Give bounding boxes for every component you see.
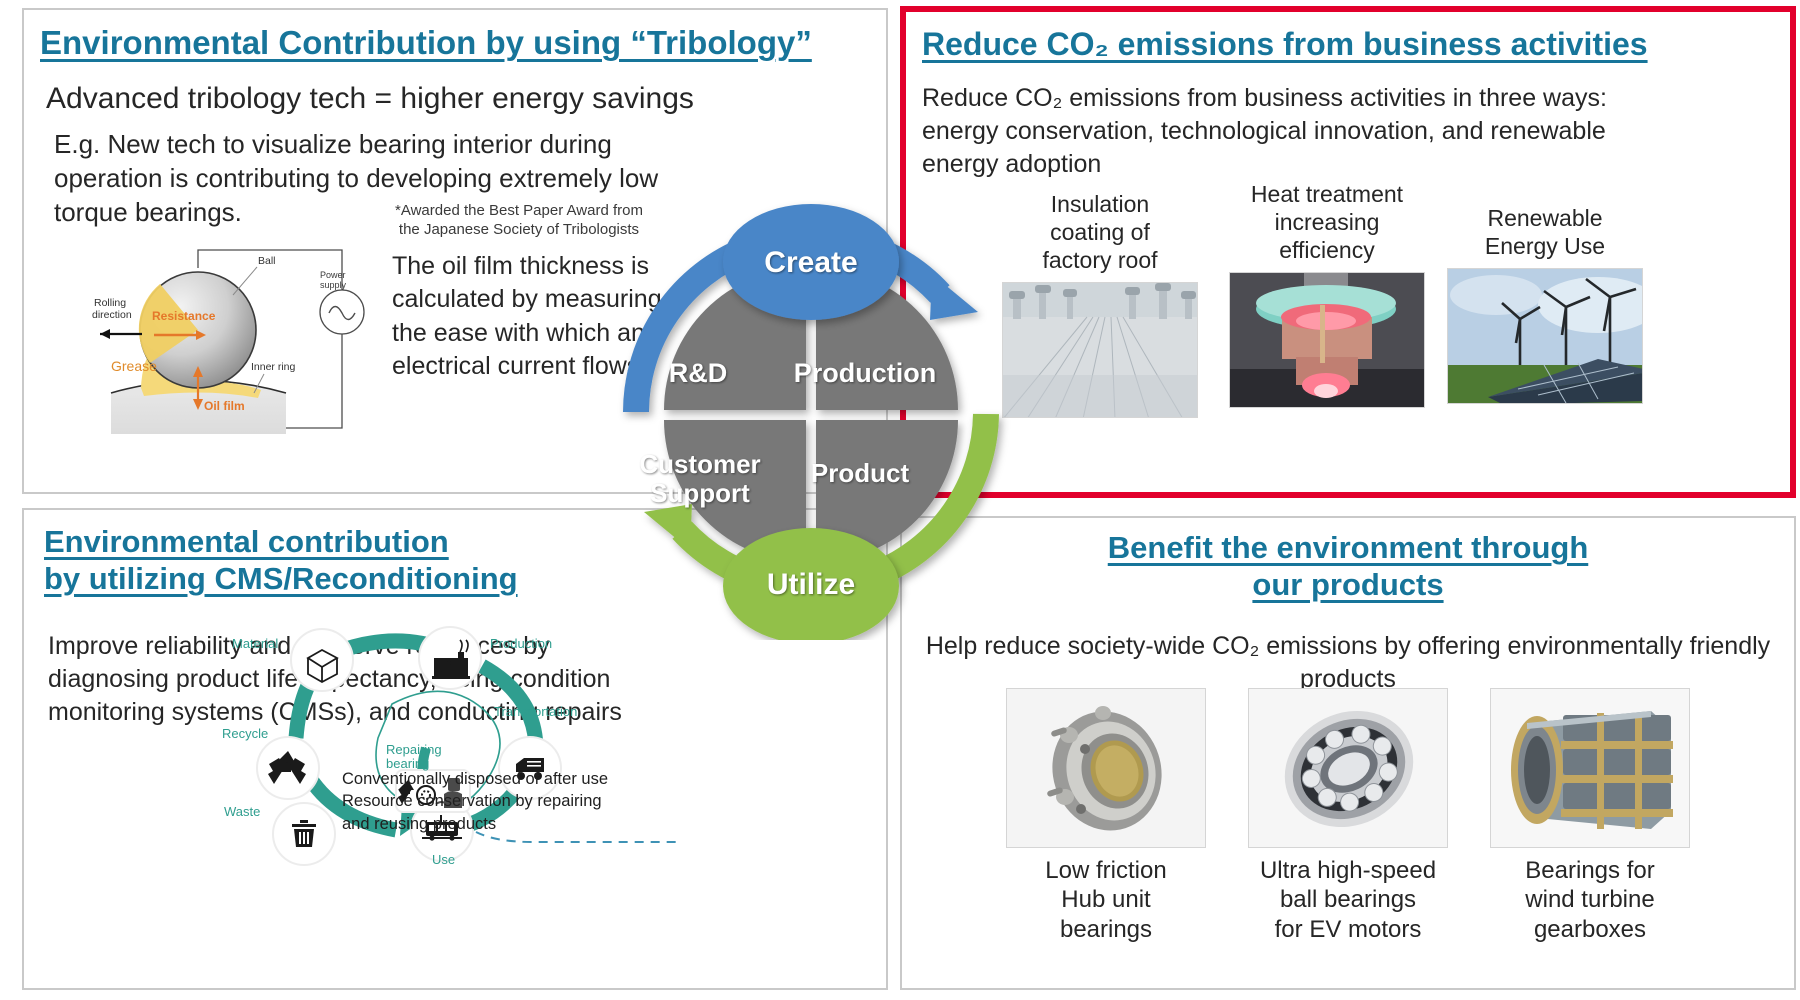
cms-label-repairing-1: Repairing	[386, 742, 442, 757]
svg-text:supply: supply	[320, 280, 347, 290]
bearing-schematic-diagram: Power supply Ball Inner ring Rolling dir…	[86, 238, 376, 438]
slide-canvas: Environmental Contribution by using “Tri…	[0, 0, 1800, 1000]
panel-benefit-products: Benefit the environment through our prod…	[900, 516, 1796, 990]
panel-cms-reconditioning: Environmental contribution by utilizing …	[22, 508, 888, 990]
product-hub-unit-caption: Low friction Hub unit bearings	[1006, 856, 1206, 944]
panel-cms-title-line1: Environmental contribution	[44, 524, 518, 561]
panel-benefit-title-line2: our products	[902, 567, 1794, 604]
co2-item-insulation: Insulation coating of factory roof	[1002, 190, 1198, 418]
hub-unit-bearing-svg	[1007, 689, 1206, 848]
svg-text:Rolling: Rolling	[94, 297, 126, 309]
wind-turbine-bearing-svg	[1491, 689, 1690, 848]
heat-treatment-photo	[1229, 272, 1425, 408]
product-hub-unit: Low friction Hub unit bearings	[1006, 688, 1206, 944]
co2-item-renewable: Renewable Energy Use	[1442, 204, 1648, 404]
svg-text:Grease: Grease	[111, 358, 157, 374]
cms-label-transportation: Transportation	[494, 704, 577, 719]
factory-roof-photo	[1002, 282, 1198, 418]
cms-label-production: Production	[490, 636, 552, 651]
cms-label-material: Material	[232, 636, 278, 651]
panel-reduce-co2: Reduce CO₂ emissions from business activ…	[900, 6, 1796, 498]
benefit-body-text: Help reduce society-wide CO₂ emissions b…	[902, 630, 1794, 695]
cms-label-use: Use	[432, 852, 455, 867]
tribology-oilfilm-text: The oil film thickness is calculated by …	[392, 250, 672, 383]
co2-item-renewable-caption: Renewable Energy Use	[1442, 204, 1648, 260]
svg-text:Inner ring: Inner ring	[251, 361, 296, 373]
wind-turbine-bearing-photo	[1490, 688, 1690, 848]
svg-text:Ball: Ball	[258, 255, 276, 267]
co2-item-heat-treatment-caption: Heat treatment increasing efficiency	[1224, 180, 1430, 264]
panel-cms-title: Environmental contribution by utilizing …	[44, 524, 518, 597]
svg-text:direction: direction	[92, 309, 132, 321]
product-ball-bearing: Ultra high-speed ball bearings for EV mo…	[1248, 688, 1448, 944]
co2-item-heat-treatment: Heat treatment increasing efficiency	[1224, 180, 1430, 408]
ball-bearing-svg	[1249, 689, 1448, 848]
product-wind-turbine-caption: Bearings for wind turbine gearboxes	[1490, 856, 1690, 944]
tribology-lead-text: Advanced tribology tech = higher energy …	[46, 82, 694, 116]
heat-treatment-photo-svg	[1230, 273, 1425, 408]
bearing-schematic-svg: Power supply Ball Inner ring Rolling dir…	[86, 238, 376, 438]
panel-tribology-title: Environmental Contribution by using “Tri…	[40, 24, 812, 63]
panel-benefit-title-line1: Benefit the environment through	[902, 530, 1794, 567]
cms-label-recycle: Recycle	[222, 726, 268, 741]
product-ball-bearing-caption: Ultra high-speed ball bearings for EV mo…	[1248, 856, 1448, 944]
ball-bearing-photo	[1248, 688, 1448, 848]
product-wind-turbine-bearing: Bearings for wind turbine gearboxes	[1490, 688, 1690, 944]
product-gallery: Low friction Hub unit bearings	[902, 688, 1794, 944]
cms-label-waste: Waste	[224, 804, 260, 819]
svg-text:Power: Power	[320, 270, 346, 280]
panel-reduce-co2-title: Reduce CO₂ emissions from business activ…	[922, 26, 1648, 64]
factory-roof-photo-svg	[1003, 283, 1198, 418]
panel-cms-title-line2: by utilizing CMS/Reconditioning	[44, 561, 518, 598]
cms-note-text: Conventionally disposed of after use Res…	[342, 768, 612, 835]
svg-text:Oil film: Oil film	[204, 399, 245, 413]
hub-unit-bearing-photo	[1006, 688, 1206, 848]
svg-text:Resistance: Resistance	[152, 309, 216, 323]
panel-benefit-title: Benefit the environment through our prod…	[902, 530, 1794, 603]
renewable-energy-photo-svg	[1448, 269, 1643, 404]
panel-tribology: Environmental Contribution by using “Tri…	[22, 8, 888, 494]
tribology-award-note: *Awarded the Best Paper Award from the J…	[384, 202, 654, 240]
reduce-co2-body-text: Reduce CO₂ emissions from business activ…	[922, 82, 1622, 181]
co2-item-insulation-caption: Insulation coating of factory roof	[1002, 190, 1198, 274]
renewable-energy-photo	[1447, 268, 1643, 404]
